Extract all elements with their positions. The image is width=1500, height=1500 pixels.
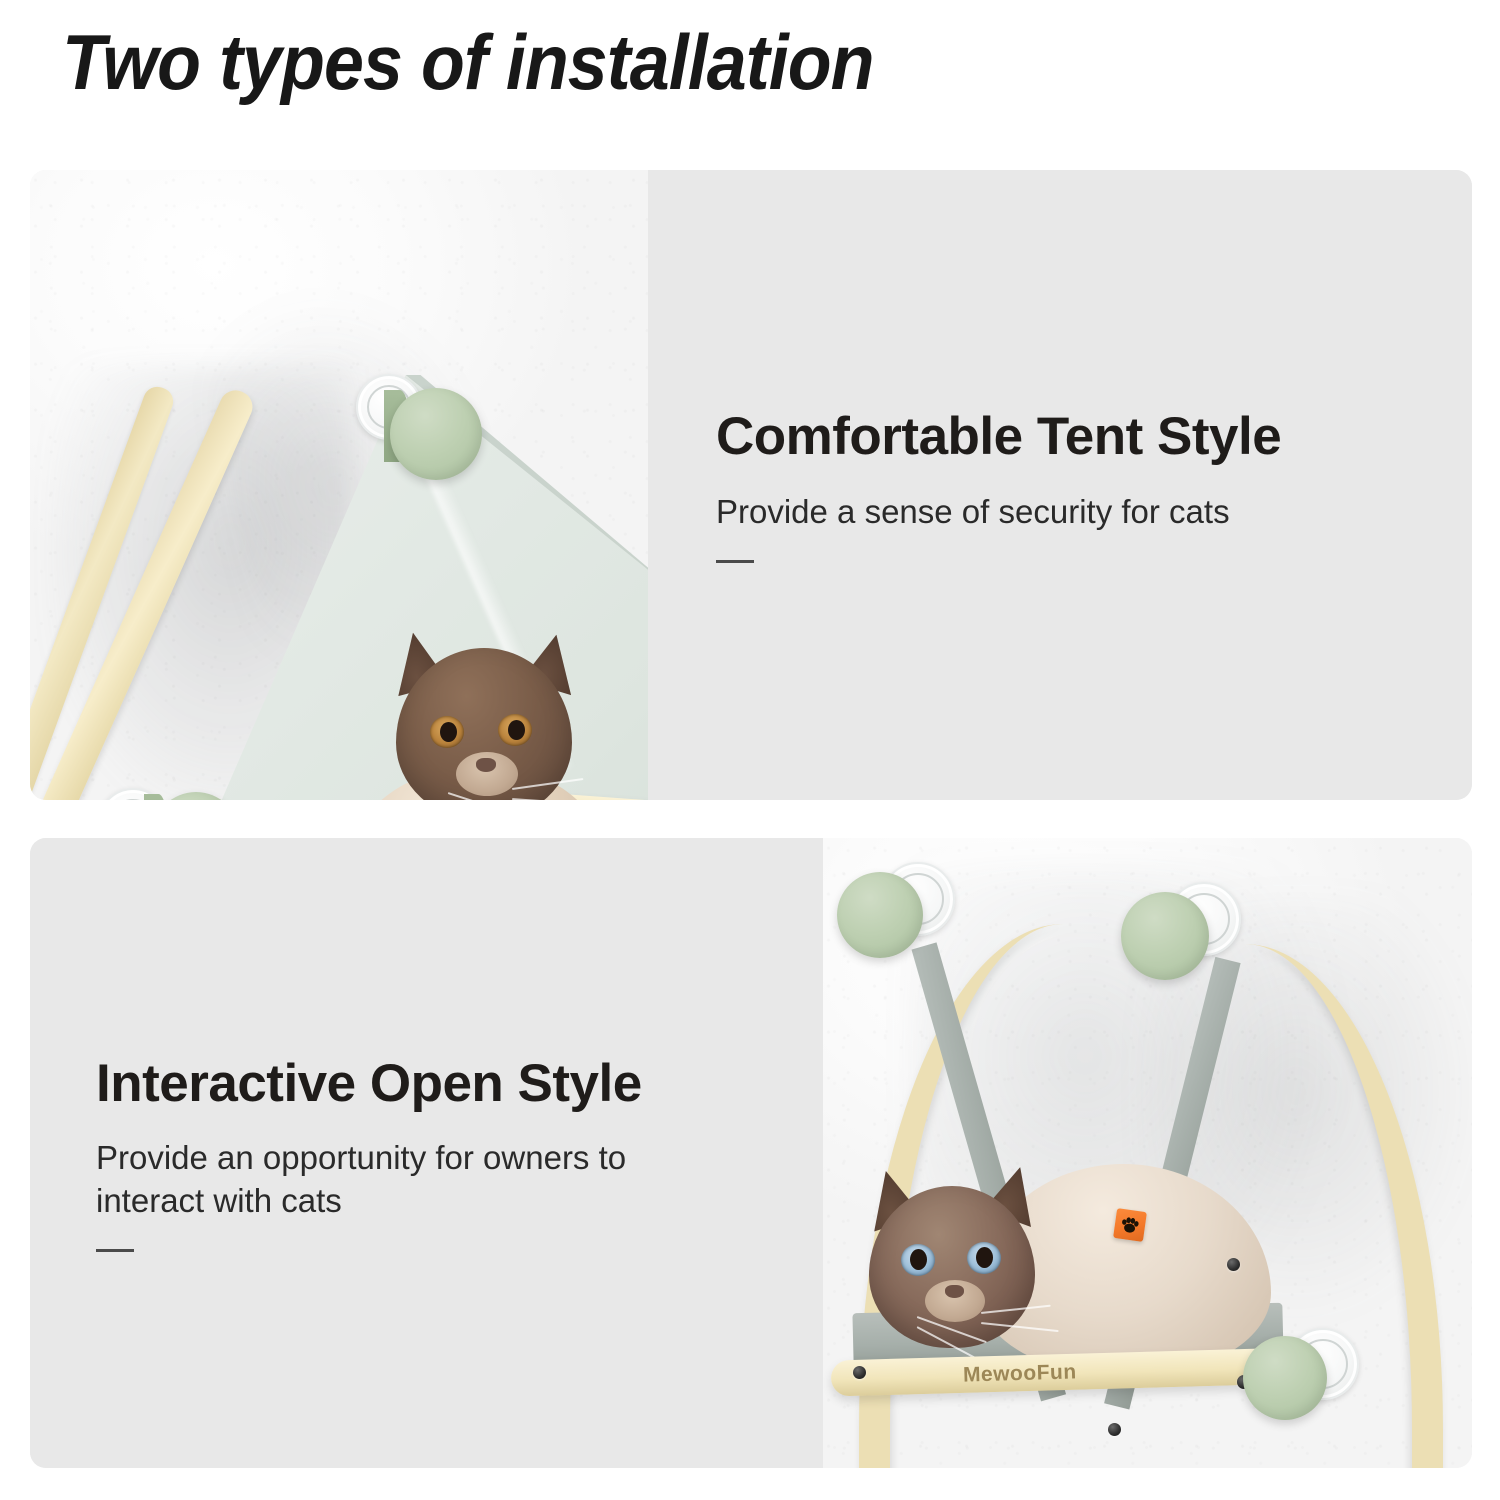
feature-panel-open-style: Interactive Open Style Provide an opport…: [30, 838, 1472, 1468]
page-title: Two types of installation: [62, 20, 874, 104]
cat-nose: [945, 1285, 964, 1298]
feature-subtitle-open: Provide an opportunity for owners to int…: [96, 1137, 736, 1223]
feature-subtitle-tent: Provide a sense of security for cats: [716, 491, 1432, 534]
feature-text-column-tent: Comfortable Tent Style Provide a sense o…: [648, 170, 1472, 800]
cat-pupil: [976, 1247, 993, 1268]
open-style-illustration: MewooFun: [823, 838, 1472, 1468]
cat-pupil: [508, 720, 525, 740]
cat-photo-subject: [352, 640, 648, 800]
feature-text-column-open: Interactive Open Style Provide an opport…: [30, 838, 823, 1468]
paw-print-icon-tag: [1113, 1208, 1147, 1242]
product-photo-tent-style: MewooFun: [30, 170, 648, 800]
divider-rule: [96, 1249, 134, 1252]
brand-logo-open: MewooFun: [963, 1360, 1077, 1387]
product-photo-open-style: MewooFun: [823, 838, 1472, 1468]
infographic-page: Two types of installation MewooFu: [0, 0, 1500, 1500]
cat-pupil: [910, 1249, 927, 1270]
divider-rule: [716, 560, 754, 563]
wood-cap-face: [837, 872, 923, 958]
wood-cap-face: [390, 388, 482, 480]
tent-illustration: MewooFun: [30, 170, 648, 800]
wood-cap-face: [1243, 1336, 1327, 1420]
feature-title-tent: Comfortable Tent Style: [716, 407, 1432, 466]
screw-icon: [1108, 1423, 1121, 1436]
screw-icon: [1227, 1258, 1240, 1271]
feature-title-open: Interactive Open Style: [96, 1054, 783, 1113]
cat-nose: [476, 758, 496, 772]
cat-pupil: [440, 722, 457, 742]
wood-cap-face: [1121, 892, 1209, 980]
feature-panel-tent-style: MewooFun: [30, 170, 1472, 800]
screw-icon: [853, 1366, 866, 1379]
